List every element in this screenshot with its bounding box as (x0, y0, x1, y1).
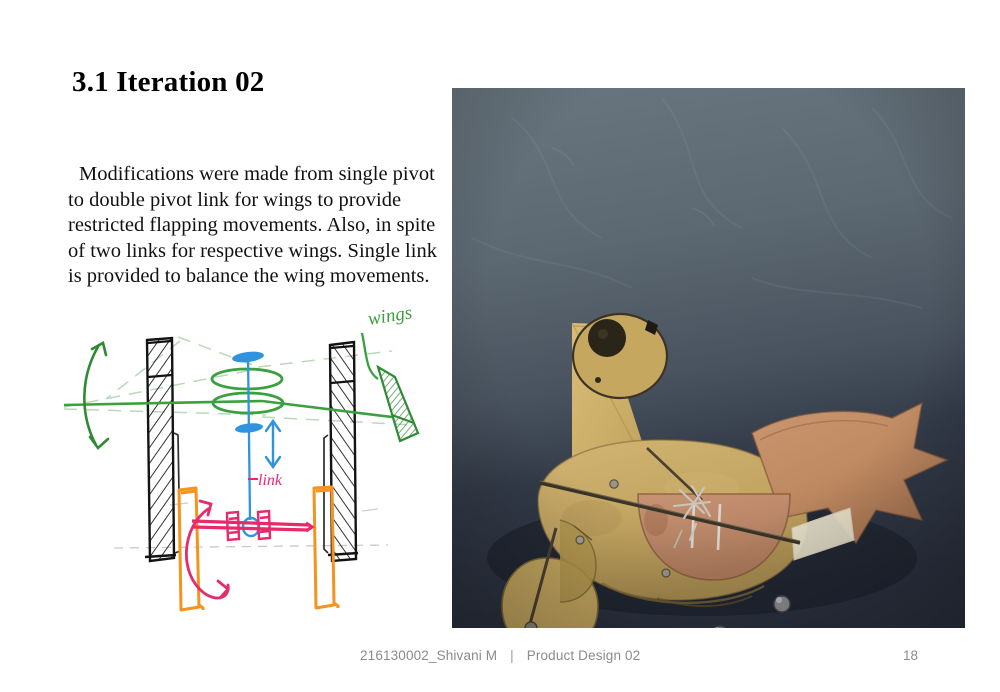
page-title: 3.1 Iteration 02 (72, 66, 264, 99)
footer-course: Product Design 02 (527, 648, 641, 663)
wing-plate (378, 367, 418, 441)
link-rod (248, 353, 250, 520)
rotation-arrow (186, 501, 228, 598)
wings-leader (362, 333, 378, 379)
link-label: link (258, 472, 283, 489)
mechanism-sketch: wings link (62, 305, 462, 630)
footer-separator: | (501, 648, 523, 663)
frame-left (145, 338, 180, 561)
link-updown-arrow (266, 421, 280, 467)
slide-canvas: 3.1 Iteration 02 Modifications were made… (0, 0, 1000, 692)
page-number: 18 (903, 648, 918, 663)
flap-arrow-left (84, 343, 108, 448)
crank-shaft (192, 521, 312, 531)
footer-author: 216130002_Shivani M (360, 648, 497, 663)
slide-footer: 216130002_Shivani M | Product Design 02 … (0, 648, 1000, 674)
footer-credit-line: 216130002_Shivani M | Product Design 02 (360, 648, 640, 663)
frame-right (324, 342, 358, 561)
body-paragraph: Modifications were made from single pivo… (68, 162, 453, 290)
wings-label: wings (366, 305, 413, 330)
photo-vignette (452, 88, 965, 628)
prototype-photo (452, 88, 965, 628)
